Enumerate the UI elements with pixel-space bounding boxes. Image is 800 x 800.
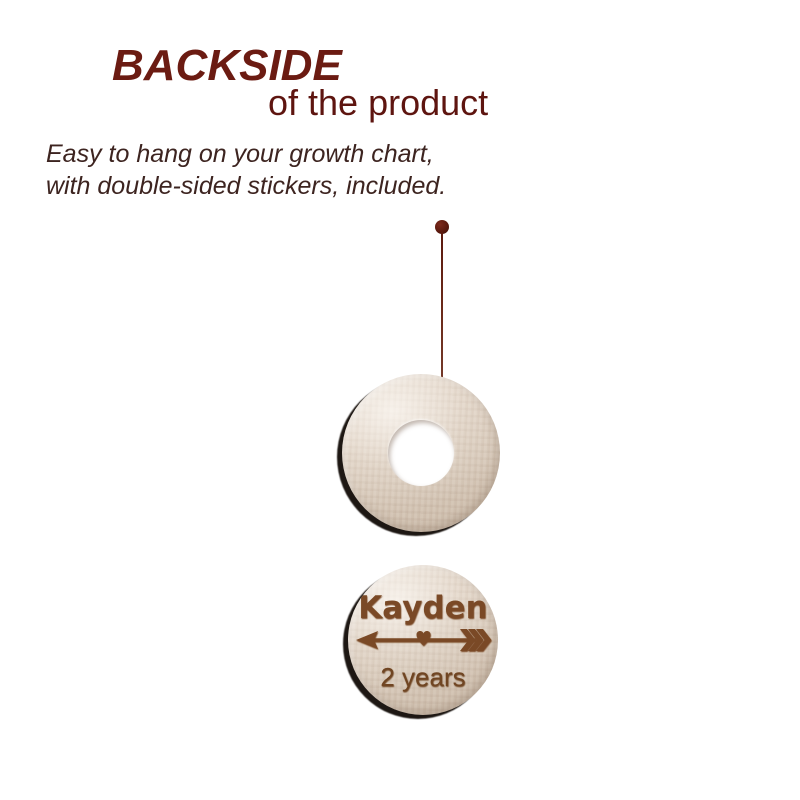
page-subtitle: of the product: [268, 85, 488, 121]
engraved-name: Kayden: [358, 590, 487, 626]
wooden-ring-disc: [342, 374, 500, 532]
product-photo-canvas: BACKSIDE of the product Easy to hang on …: [0, 0, 800, 800]
arrow-with-heart-icon: [356, 629, 492, 651]
engraved-wooden-disc: Kayden 2 years: [348, 565, 498, 715]
engraving-artwork: Kayden 2 years: [348, 565, 498, 715]
engraved-age: 2 years: [380, 662, 465, 692]
tagline-text: Easy to hang on your growth chart, with …: [46, 138, 446, 202]
disc-engraving: Kayden 2 years: [348, 565, 498, 715]
disc-center-hole: [388, 420, 454, 486]
